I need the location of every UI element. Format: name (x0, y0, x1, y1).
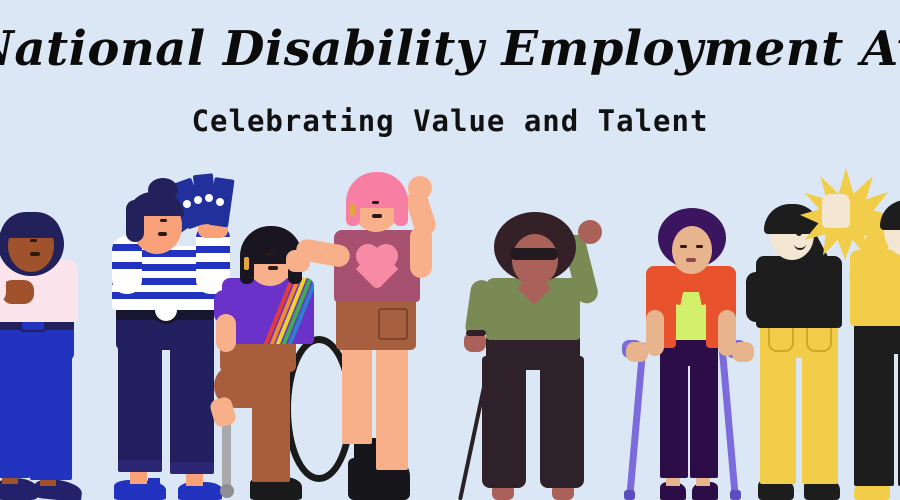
forearm-left (646, 310, 664, 356)
crutch-left-shaft (626, 342, 647, 500)
card-dot (194, 196, 202, 204)
hand-high-five (822, 194, 850, 228)
stripe (112, 262, 142, 269)
arm-right (54, 262, 78, 320)
sunglasses (510, 248, 558, 260)
trouser-leg-left (660, 354, 688, 478)
leg-right (376, 338, 408, 470)
figure-woman-sunglasses-cane (460, 200, 610, 500)
card-dot (183, 200, 191, 208)
trouser-cuff-left (118, 460, 162, 472)
page-subtitle: Celebrating Value and Talent (0, 104, 900, 138)
shorts-pocket (378, 308, 408, 340)
hand-right-grip (732, 342, 754, 362)
crutch-left-tip (624, 490, 635, 500)
figure-woman-pink-blouse (0, 210, 98, 500)
eye (30, 239, 37, 242)
figure-woman-crutches (620, 190, 770, 500)
figure-yellow-top-black-pants (850, 170, 900, 500)
mouth (158, 232, 167, 236)
eye (796, 230, 802, 236)
crutch-right-shaft (718, 342, 739, 500)
stripe (112, 244, 142, 251)
trouser-leg-left (482, 356, 526, 488)
wheelchair-caster (220, 484, 234, 498)
wristband (466, 330, 486, 336)
eye (372, 201, 379, 204)
heel-left (148, 478, 160, 500)
eye-left (680, 245, 687, 248)
eye-right (696, 245, 703, 248)
page-title: National Disability Employment Awareness… (0, 22, 900, 77)
earring (244, 257, 249, 270)
figure-pink-hair-heart-shirt (318, 160, 438, 500)
eye (160, 219, 167, 222)
arm-on-hip (746, 272, 766, 322)
mouth (686, 258, 696, 262)
trouser-leg-left (760, 346, 796, 484)
hair-side-right (394, 198, 408, 226)
crutch-right-tip (730, 490, 741, 500)
hair (880, 200, 900, 230)
leg-left (342, 338, 372, 444)
mouth (268, 266, 278, 270)
eye (266, 253, 274, 256)
hair-top (0, 212, 62, 238)
raised-fist (578, 220, 602, 244)
hand (2, 280, 34, 304)
trouser-cuff-right (170, 462, 214, 474)
mouth (30, 252, 40, 256)
arm-left (216, 314, 236, 352)
fist (408, 176, 432, 200)
trouser-leg-right (802, 346, 838, 484)
face (672, 226, 712, 274)
trouser-leg-right (540, 356, 584, 488)
trouser-leg-left (854, 344, 894, 486)
earring (350, 204, 355, 216)
trouser-leg-right (690, 354, 718, 478)
mouth (372, 214, 382, 218)
hand-left-grip (626, 342, 648, 362)
head-front (512, 234, 558, 286)
awareness-banner: National Disability Employment Awareness… (0, 0, 900, 500)
hand-on-shoulder (286, 250, 310, 272)
hair-bun (148, 178, 178, 202)
